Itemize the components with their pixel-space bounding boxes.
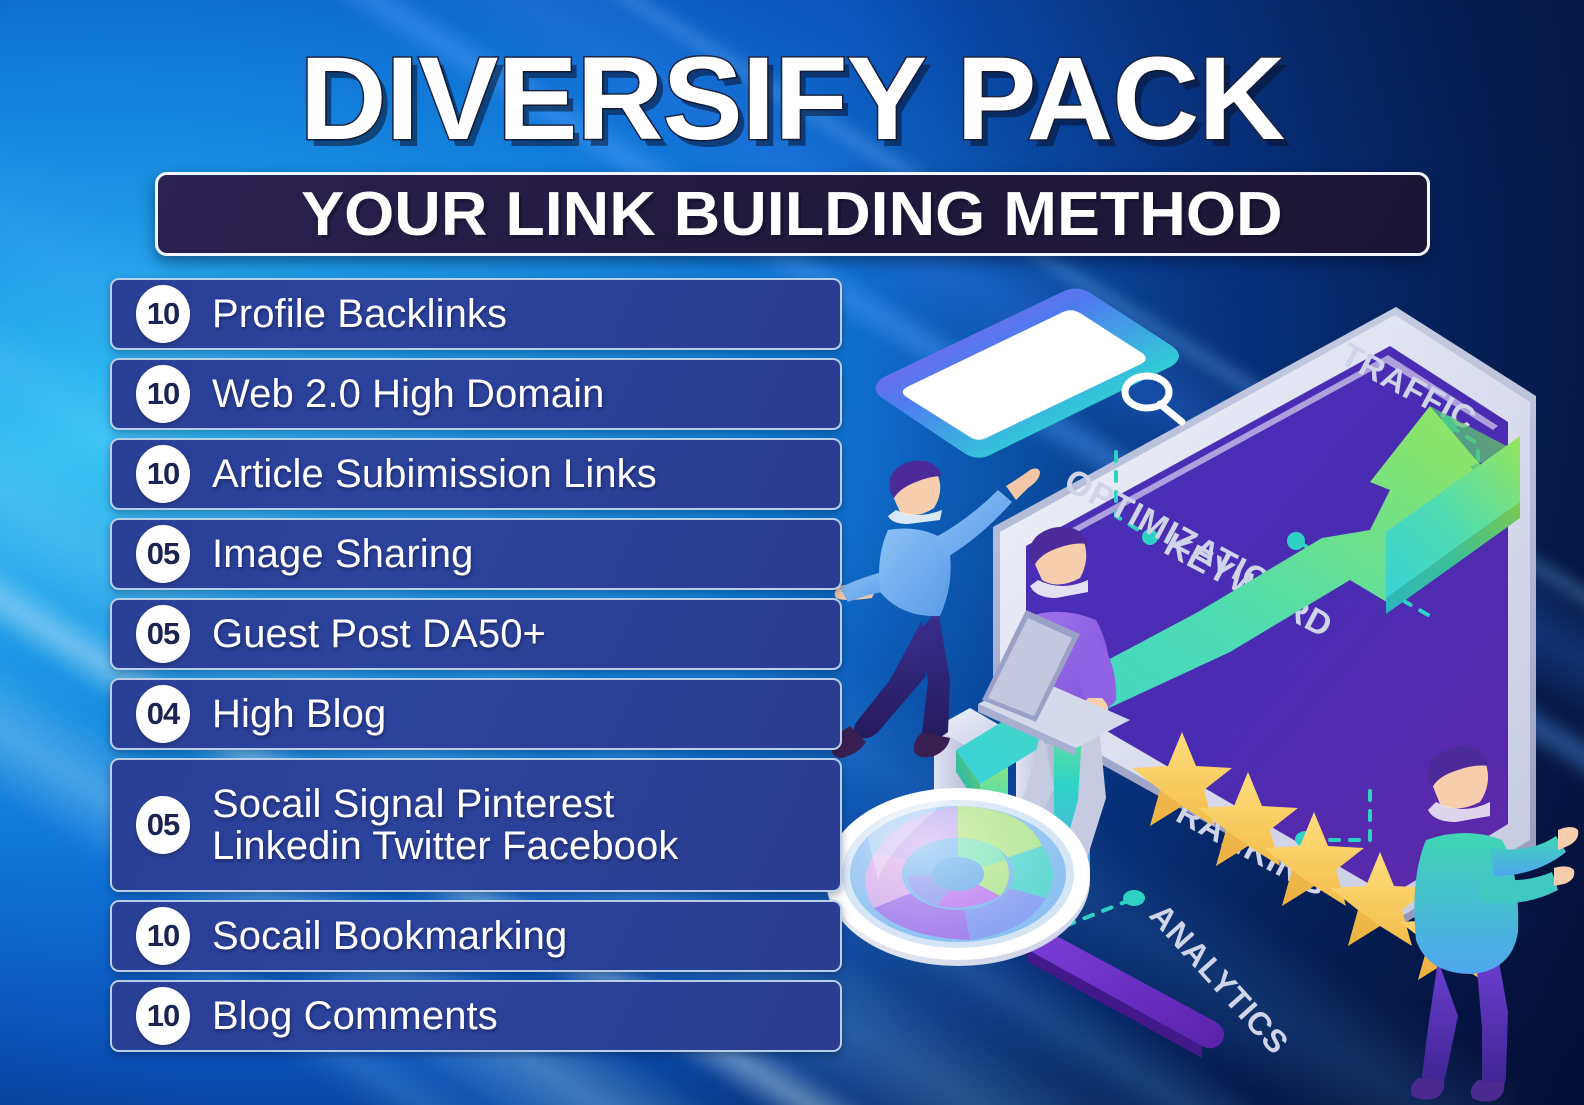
item-label: Article Subimission Links	[212, 453, 657, 495]
list-item[interactable]: 10Blog Comments	[110, 980, 842, 1052]
item-count-badge: 05	[136, 796, 190, 854]
search-bar[interactable]	[876, 288, 1182, 457]
item-count-badge: 10	[136, 987, 190, 1045]
item-count-badge: 10	[136, 907, 190, 965]
list-item[interactable]: 10Web 2.0 High Domain	[110, 358, 842, 430]
item-label: Socail Bookmarking	[212, 915, 567, 957]
list-item[interactable]: 05Image Sharing	[110, 518, 842, 590]
package-list: 10Profile Backlinks10Web 2.0 High Domain…	[110, 278, 842, 1060]
page-title: DIVERSIFY PACK	[0, 40, 1584, 158]
item-count-badge: 10	[136, 285, 190, 343]
item-count-badge: 05	[136, 525, 190, 583]
item-label: Socail Signal Pinterest Linkedin Twitter…	[212, 783, 678, 868]
page-subtitle: YOUR LINK BUILDING METHOD	[301, 179, 1283, 250]
list-item[interactable]: 10Socail Bookmarking	[110, 900, 842, 972]
item-count-badge: 10	[136, 365, 190, 423]
search-icon	[1125, 376, 1182, 422]
subtitle-bar: YOUR LINK BUILDING METHOD	[155, 172, 1430, 256]
item-label: Image Sharing	[212, 533, 473, 575]
item-label: Web 2.0 High Domain	[212, 373, 604, 415]
item-count-badge: 04	[136, 685, 190, 743]
list-item[interactable]: 10Profile Backlinks	[110, 278, 842, 350]
headline-block: DIVERSIFY PACK YOUR LINK BUILDING METHOD	[0, 40, 1584, 256]
item-count-badge: 05	[136, 605, 190, 663]
item-label: Guest Post DA50+	[212, 613, 546, 655]
list-item[interactable]: 10Article Subimission Links	[110, 438, 842, 510]
seo-isometric-illustration: KEYWORD OPTIMIZATION TRAFFIC RANKING ANA…	[830, 280, 1580, 1070]
item-label: High Blog	[212, 693, 386, 735]
list-item[interactable]: 05Guest Post DA50+	[110, 598, 842, 670]
item-label: Profile Backlinks	[212, 293, 507, 335]
item-count-badge: 10	[136, 445, 190, 503]
list-item[interactable]: 05Socail Signal Pinterest Linkedin Twitt…	[110, 758, 842, 892]
item-label: Blog Comments	[212, 995, 498, 1037]
list-item[interactable]: 04High Blog	[110, 678, 842, 750]
